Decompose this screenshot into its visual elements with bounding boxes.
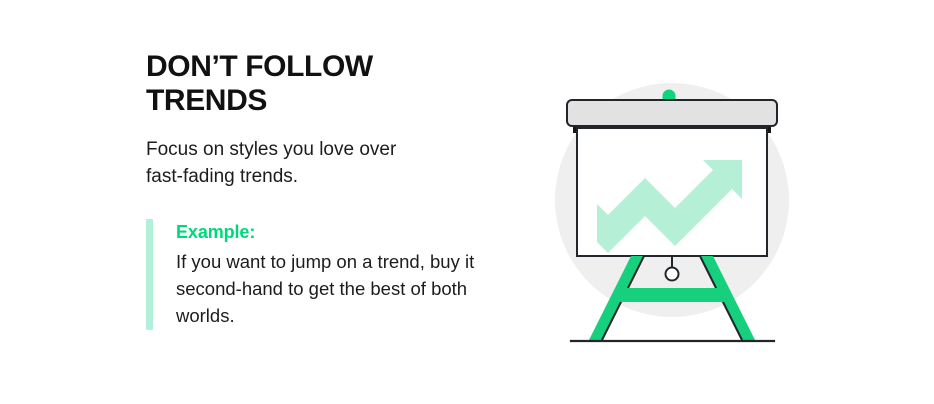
text-column: Don’t follow trends Focus on styles you …: [146, 50, 506, 330]
example-callout: Example: If you want to jump on a trend,…: [146, 219, 506, 329]
tripod-crossbar-icon: [620, 288, 724, 302]
example-label: Example:: [176, 219, 506, 246]
pull-cord-ring-icon: [666, 268, 679, 281]
page-title: Don’t follow trends: [146, 50, 436, 117]
screen-top-bar-icon: [567, 100, 777, 126]
example-body-text: If you want to jump on a trend, buy it s…: [176, 246, 486, 329]
presentation-screen-illustration: [527, 52, 827, 352]
example-accent-bar: [146, 219, 153, 329]
tip-card: Don’t follow trends Focus on styles you …: [0, 0, 934, 404]
subheading-text: Focus on styles you love over fast-fadin…: [146, 117, 436, 191]
